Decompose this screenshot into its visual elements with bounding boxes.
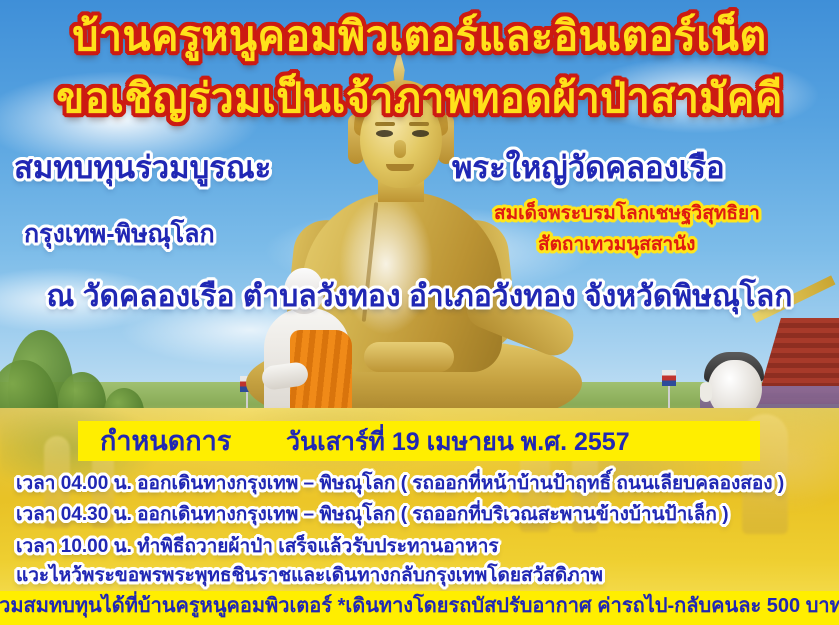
buddha-eye xyxy=(376,130,393,137)
poster-canvas: บ้านครูหนูคอมพิวเตอร์และอินเตอร์เน็ต ขอเ… xyxy=(0,0,839,625)
event-date: วันเสาร์ที่ 19 เมษายน พ.ศ. 2557 xyxy=(286,430,630,455)
big-buddha-name-label: พระใหญ่วัดคลองเรือ xyxy=(452,152,725,183)
travel-route-label: กรุงเทพ-พิษณุโลก xyxy=(24,222,215,247)
buddha-formal-name-line-1: สมเด็จพระบรมโลกเชษฐวิสุทธิยา xyxy=(494,204,760,223)
schedule-item: เวลา 04.00 น. ออกเดินทางกรุงเทพ – พิษณุโ… xyxy=(16,474,784,493)
schedule-heading: กำหนดการ xyxy=(100,428,231,455)
poster-title-line-1: บ้านครูหนูคอมพิวเตอร์และอินเตอร์เน็ต xyxy=(72,16,766,57)
thai-flag-icon xyxy=(662,370,676,386)
schedule-item: เวลา 04.30 น. ออกเดินทางกรุงเทพ – พิษณุโ… xyxy=(16,505,729,524)
buddha-eyebrow xyxy=(375,122,395,126)
buddha-formal-name-line-2: สัตถาเทวมนุสสานัง xyxy=(538,235,695,254)
buddha-hand xyxy=(364,342,454,372)
buddha-eyebrow xyxy=(409,122,429,126)
buddha-mouth xyxy=(386,164,414,171)
buddha-nose xyxy=(394,140,406,158)
poster-title-line-2: ขอเชิญร่วมเป็นเจ้าภาพทอดผ้าป่าสามัคคี xyxy=(56,78,783,119)
schedule-item: เวลา 10.00 น. ทำพิธีถวายผ้าป่า เสร็จแล้ว… xyxy=(16,537,499,556)
venue-address: ณ วัดคลองเรือ ตำบลวังทอง อำเภอวังทอง จัง… xyxy=(47,282,793,312)
footer-donation-note: ร่วมสมทบทุนได้ที่บ้านครูหนูคอมพิวเตอร์ *… xyxy=(0,596,839,616)
schedule-item: แวะไหว้พระขอพรพระพุทธชินราชและเดินทางกลั… xyxy=(16,566,603,585)
merit-purpose-label: สมทบทุนร่วมบูรณะ xyxy=(14,152,271,183)
elder-ear xyxy=(700,382,712,402)
buddha-eye xyxy=(412,130,429,137)
